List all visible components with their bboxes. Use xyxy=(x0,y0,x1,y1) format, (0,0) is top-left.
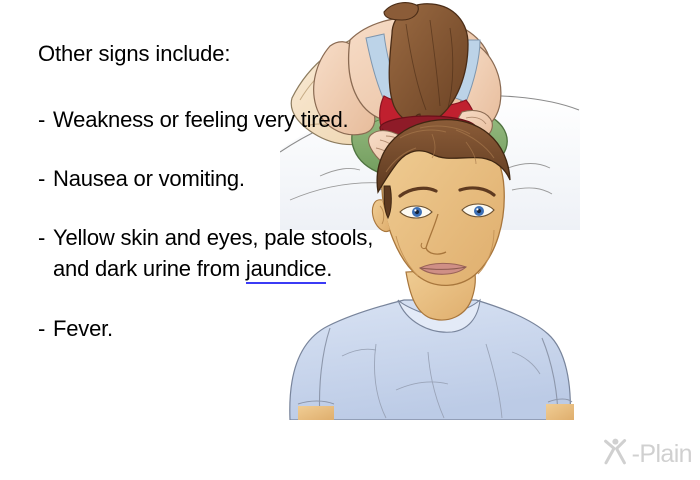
list-item-label: Yellow skin and eyes, pale stools, and d… xyxy=(53,222,388,284)
man-right-eye xyxy=(462,204,494,217)
bullet-marker: - xyxy=(38,222,53,253)
list-item-label: Fever. xyxy=(53,313,388,344)
list-item-text-after-link: . xyxy=(326,256,332,281)
red-bowl xyxy=(380,116,476,180)
xplain-logo: -Plain xyxy=(603,437,692,472)
page-title: Other signs include: xyxy=(38,40,388,68)
man-head xyxy=(372,120,510,286)
content-text-column: Other signs include: - Weakness or feeli… xyxy=(38,40,388,370)
bullet-marker: - xyxy=(38,104,53,135)
bullet-marker: - xyxy=(38,313,53,344)
logo-wordmark: -Plain xyxy=(632,442,692,467)
list-item-fever: - Fever. xyxy=(38,313,388,344)
man-left-eye xyxy=(400,206,432,218)
list-item-weakness: - Weakness or feeling very tired. xyxy=(38,104,388,135)
list-item-label: Nausea or vomiting. xyxy=(53,163,388,194)
jaundice-glossary-link[interactable]: jaundice xyxy=(246,256,326,284)
woman-head-ponytail xyxy=(384,3,468,148)
man-neck xyxy=(406,268,475,320)
list-item-jaundice: - Yellow skin and eyes, pale stools, and… xyxy=(38,222,388,284)
slide-canvas: Other signs include: - Weakness or feeli… xyxy=(0,0,700,480)
list-item-label: Weakness or feeling very tired. xyxy=(53,104,388,135)
x-figure-icon xyxy=(603,437,631,472)
list-item-nausea: - Nausea or vomiting. xyxy=(38,163,388,194)
woman-right-hand xyxy=(456,110,493,140)
bullet-marker: - xyxy=(38,163,53,194)
